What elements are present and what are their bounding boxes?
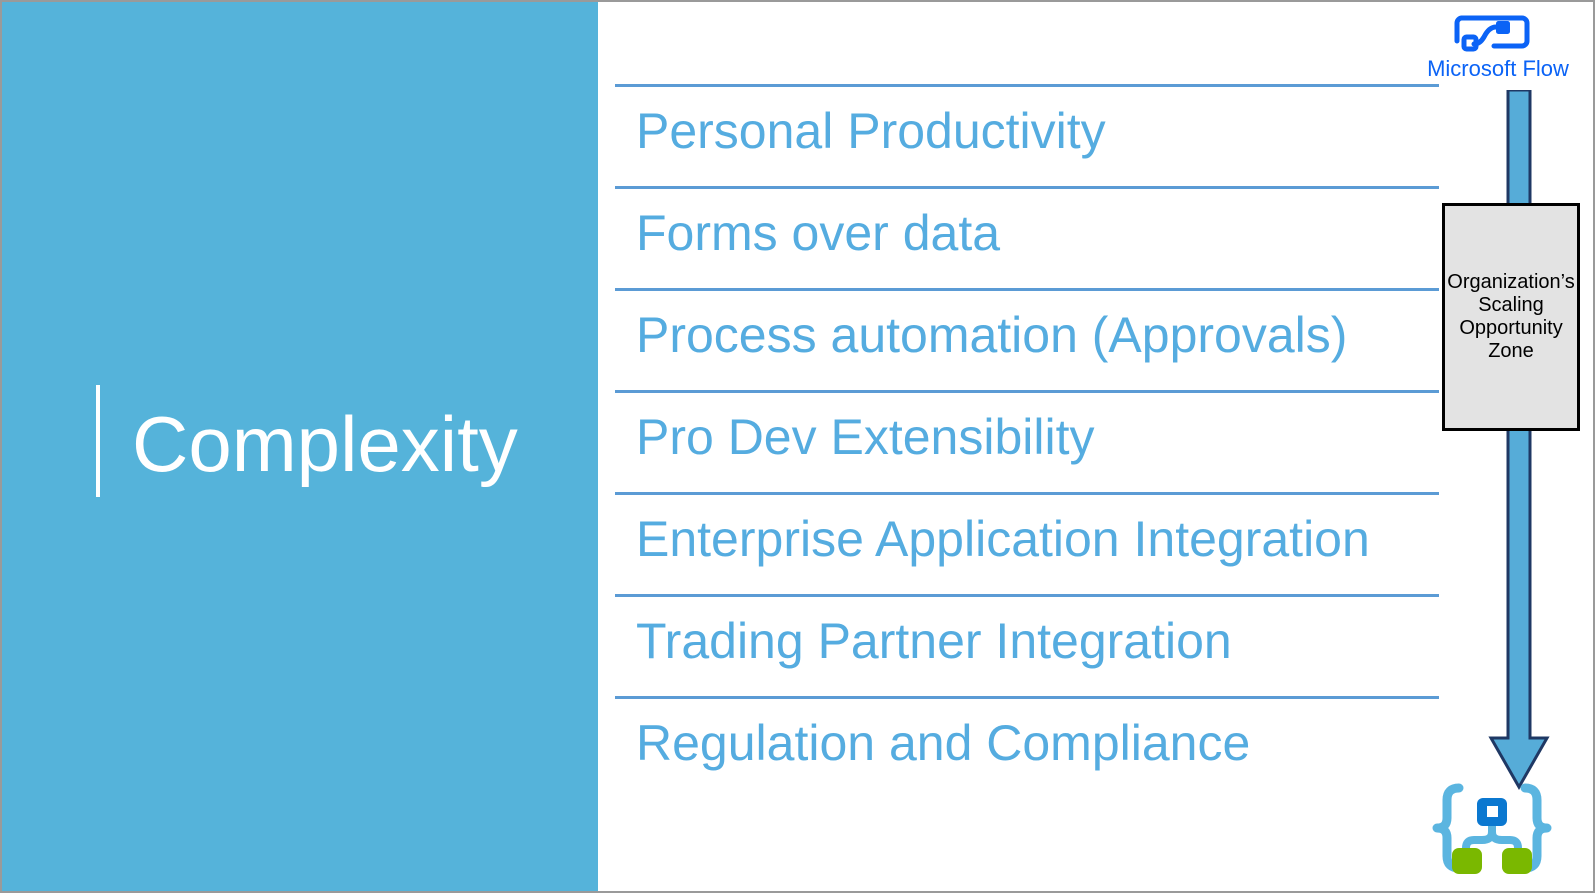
microsoft-flow-icon — [1452, 10, 1532, 54]
list-item: Personal Productivity — [615, 84, 1439, 186]
complexity-axis-panel: Complexity — [2, 2, 598, 893]
list-item-label: Process automation (Approvals) — [636, 297, 1347, 373]
list-item-label: Regulation and Compliance — [636, 705, 1250, 781]
slide-canvas: Complexity Personal Productivity Forms o… — [0, 0, 1595, 893]
opportunity-zone-text: Organization’s Scaling Opportunity Zone — [1443, 271, 1578, 363]
row-divider — [615, 390, 1439, 393]
list-item-label: Enterprise Application Integration — [636, 501, 1370, 577]
row-divider — [615, 84, 1439, 87]
page-title: Complexity — [132, 394, 518, 494]
row-divider — [615, 696, 1439, 699]
list-item: Forms over data — [615, 186, 1439, 288]
list-item: Enterprise Application Integration — [615, 492, 1439, 594]
azure-logic-apps-icon — [1426, 782, 1558, 890]
row-divider — [615, 492, 1439, 495]
row-divider — [615, 594, 1439, 597]
list-item-label: Pro Dev Extensibility — [636, 399, 1095, 475]
list-item-label: Personal Productivity — [636, 93, 1106, 169]
opportunity-zone-box: Organization’s Scaling Opportunity Zone — [1442, 203, 1580, 431]
list-item: Regulation and Compliance — [615, 696, 1439, 798]
row-divider — [615, 186, 1439, 189]
accent-bar — [96, 385, 100, 497]
row-divider — [615, 288, 1439, 291]
list-item-label: Trading Partner Integration — [636, 603, 1232, 679]
complexity-tier-list: Personal Productivity Forms over data Pr… — [598, 2, 1595, 893]
down-arrow-icon — [1480, 90, 1552, 790]
list-item: Trading Partner Integration — [615, 594, 1439, 696]
list-item: Pro Dev Extensibility — [615, 390, 1439, 492]
microsoft-flow-label: Microsoft Flow — [1418, 56, 1578, 82]
list-item-label: Forms over data — [636, 195, 1000, 271]
list-item: Process automation (Approvals) — [615, 288, 1439, 390]
